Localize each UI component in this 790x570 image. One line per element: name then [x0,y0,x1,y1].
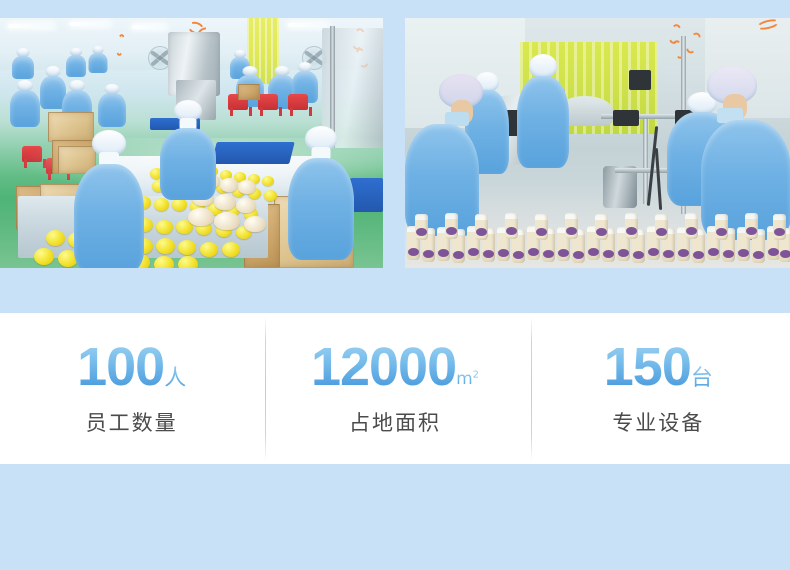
photo-production-line-packing[interactable]: 请勿重压 [0,18,383,268]
photo-bottling-capping-line[interactable] [405,18,790,268]
stat-floor-area-unit: m2 [456,369,479,389]
stat-equipment: 150台 专业设备 [527,340,790,437]
bottom-background-band [0,464,790,570]
stat-floor-area: 12000m2 占地面积 [263,340,526,437]
stat-floor-area-value: 12000 [311,340,456,394]
stat-equipment-unit: 台 [691,360,713,392]
stat-employees-unit: 人 [164,360,186,392]
stat-equipment-value: 150 [604,340,691,394]
page-root: 请勿重压 [0,0,790,570]
stat-employees-label: 员工数量 [0,407,263,437]
factory-photo-gallery: 请勿重压 [0,18,790,268]
stat-floor-area-label: 占地面积 [263,407,526,437]
stat-employees-value: 100 [77,340,164,394]
stat-floor-area-unit-exponent: 2 [473,369,479,380]
company-stats: 100人 员工数量 12000m2 占地面积 150台 专业设备 [0,313,790,464]
mid-background-band [0,268,790,313]
stats-divider-1 [265,316,266,461]
stats-divider-2 [531,316,532,461]
stat-employees: 100人 员工数量 [0,340,263,437]
stat-equipment-label: 专业设备 [527,407,790,437]
stat-floor-area-unit-base: m [456,369,473,389]
top-background-band [0,0,790,18]
